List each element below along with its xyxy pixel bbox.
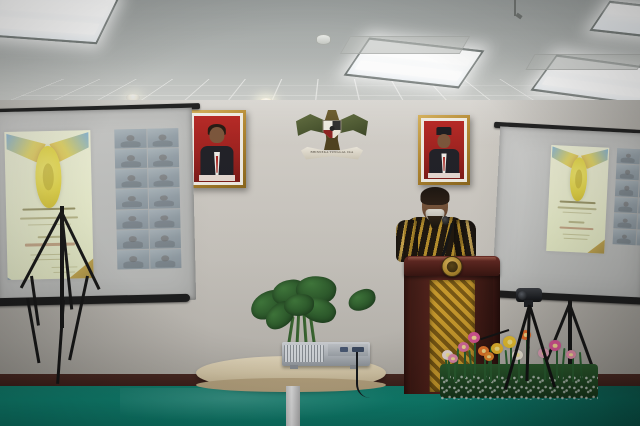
pancasila-shield <box>323 120 342 140</box>
light-tube <box>607 7 640 23</box>
flower-stem <box>518 358 520 382</box>
flower-pink <box>448 354 458 363</box>
shield-center-star <box>329 126 335 132</box>
face <box>209 127 224 144</box>
participant-tile <box>148 188 180 208</box>
screen-surface-right <box>492 126 640 301</box>
plant-leaf <box>346 287 378 314</box>
projector-vent-grille <box>284 345 324 362</box>
flower-stem <box>572 358 574 382</box>
participant-tile <box>147 128 179 148</box>
vice-president-portrait <box>418 115 470 185</box>
screen-glare <box>492 126 580 301</box>
face <box>437 134 450 149</box>
participant-tile <box>116 209 148 229</box>
garuda-tail <box>324 138 340 150</box>
projector-foot <box>290 365 298 369</box>
participant-tile <box>117 250 149 270</box>
microphone-head <box>442 216 449 225</box>
floor-light-reflection <box>120 388 400 422</box>
participant-tile <box>116 189 148 209</box>
smoke-detector <box>316 34 331 45</box>
participant-tile <box>613 229 636 245</box>
participant-tile <box>616 164 639 180</box>
light-tube <box>0 0 109 17</box>
projector-hdmi-port <box>340 347 348 352</box>
participant-tile <box>149 209 181 229</box>
flower-orange <box>484 352 494 361</box>
ac-vent <box>340 36 470 54</box>
certificate-corner-gold <box>574 227 608 254</box>
flower-yellow <box>503 336 516 348</box>
participant-tile <box>115 149 147 169</box>
participant-tile <box>149 229 181 249</box>
participant-tile <box>117 230 149 250</box>
participant-tile <box>615 180 638 196</box>
projector-cable <box>356 352 380 398</box>
flower-stem <box>498 352 500 380</box>
portrait-mat <box>421 118 467 182</box>
seal-inner <box>574 169 583 189</box>
garuda-pancasila-emblem: BHINNEKA TUNGGAL IKA <box>296 104 368 164</box>
flower-pink <box>468 332 480 343</box>
participant-tile <box>617 148 640 164</box>
podium-emblem-center <box>446 261 457 272</box>
participant-tile <box>148 168 180 188</box>
photo-scene: BHINNEKA TUNGGAL IKA <box>0 0 640 426</box>
flower-pink <box>566 350 576 359</box>
participant-tile <box>636 230 640 246</box>
motto-text: BHINNEKA TUNGGAL IKA <box>311 150 354 154</box>
podium-gold-emblem <box>442 256 463 277</box>
vice-president-portrait-image <box>424 121 464 179</box>
speaker-right-arm <box>454 220 476 260</box>
video-conference-gallery <box>613 148 640 246</box>
flower-pink <box>549 340 561 351</box>
projection-screen-left <box>0 96 206 326</box>
flower-stem <box>454 362 456 382</box>
table-pedestal <box>286 386 300 426</box>
flower-pink <box>458 342 469 352</box>
camera-lens <box>518 291 527 300</box>
flower-stem <box>490 360 492 382</box>
video-conference-gallery <box>114 128 181 269</box>
flower-stem <box>556 350 558 380</box>
light-tube <box>0 17 100 35</box>
participant-tile <box>147 148 179 168</box>
participant-tile <box>114 129 146 149</box>
participant-tile <box>115 169 147 189</box>
flower-yellow <box>491 343 503 354</box>
portrait-caption <box>428 173 460 178</box>
speaker-hair <box>421 187 450 205</box>
participant-tile <box>614 197 637 213</box>
participant-tile <box>150 249 182 269</box>
ac-vent <box>525 54 640 70</box>
flower-stem <box>474 342 476 374</box>
flower-stem <box>464 352 466 378</box>
participant-tile <box>613 213 636 229</box>
